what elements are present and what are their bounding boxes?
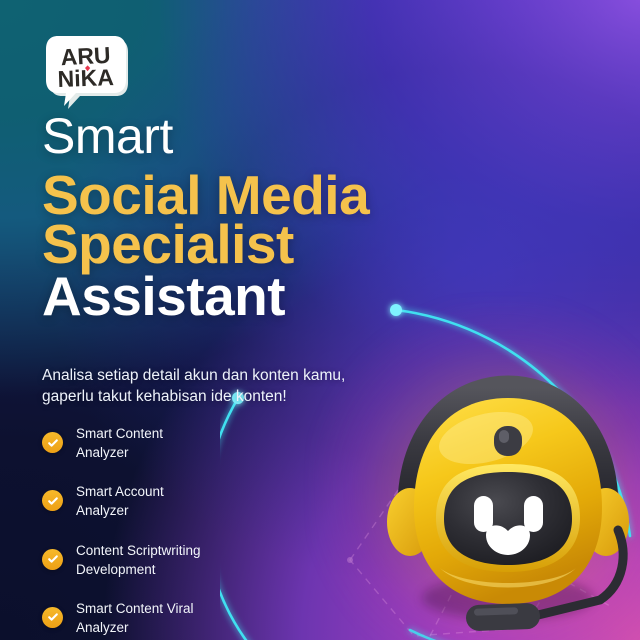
list-item: Smart Content Viral Analyzer	[42, 599, 322, 637]
feature-0-line2: Analyzer	[76, 443, 163, 462]
list-item: Smart Content Analyzer	[42, 424, 322, 462]
list-item: Content Scriptwriting Development	[42, 541, 322, 579]
page-title: Smart Social Media Specialist Assistant	[42, 110, 482, 324]
feature-3-line2: Analyzer	[76, 618, 194, 637]
feature-2-line2: Development	[76, 560, 201, 579]
speech-bubble-logo: ARU NiKA	[44, 26, 130, 112]
feature-list: Smart Content Analyzer Smart Account Ana…	[42, 424, 322, 640]
feature-1-line2: Analyzer	[76, 501, 164, 520]
headline-line-1: Smart	[42, 110, 482, 163]
list-item: Smart Account Analyzer	[42, 482, 322, 520]
list-item-label: Smart Account Analyzer	[76, 482, 164, 520]
list-item-label: Content Scriptwriting Development	[76, 541, 201, 579]
check-circle-icon	[42, 432, 63, 453]
check-circle-icon	[42, 490, 63, 511]
left-eye	[474, 496, 493, 532]
list-item-label: Smart Content Viral Analyzer	[76, 599, 194, 637]
feature-3-line1: Smart Content Viral	[76, 599, 194, 618]
right-eye	[524, 496, 543, 532]
promo-poster: ARU NiKA Smart Social Media Specialist A…	[0, 0, 640, 640]
feature-0-line1: Smart Content	[76, 424, 163, 443]
subtitle: Analisa setiap detail akun dan konten ka…	[42, 365, 402, 408]
feature-1-line1: Smart Account	[76, 482, 164, 501]
feature-2-line1: Content Scriptwriting	[76, 541, 201, 560]
subtitle-line-2: gaperlu takut kehabisan ide konten!	[42, 386, 402, 407]
brand-logo[interactable]: ARU NiKA	[44, 26, 130, 112]
headline-line-4: Assistant	[42, 270, 482, 324]
check-circle-icon	[42, 607, 63, 628]
robot-assistant-mascot	[374, 372, 640, 640]
check-circle-icon	[42, 549, 63, 570]
subtitle-line-1: Analisa setiap detail akun dan konten ka…	[42, 365, 402, 386]
list-item-label: Smart Content Analyzer	[76, 424, 163, 462]
